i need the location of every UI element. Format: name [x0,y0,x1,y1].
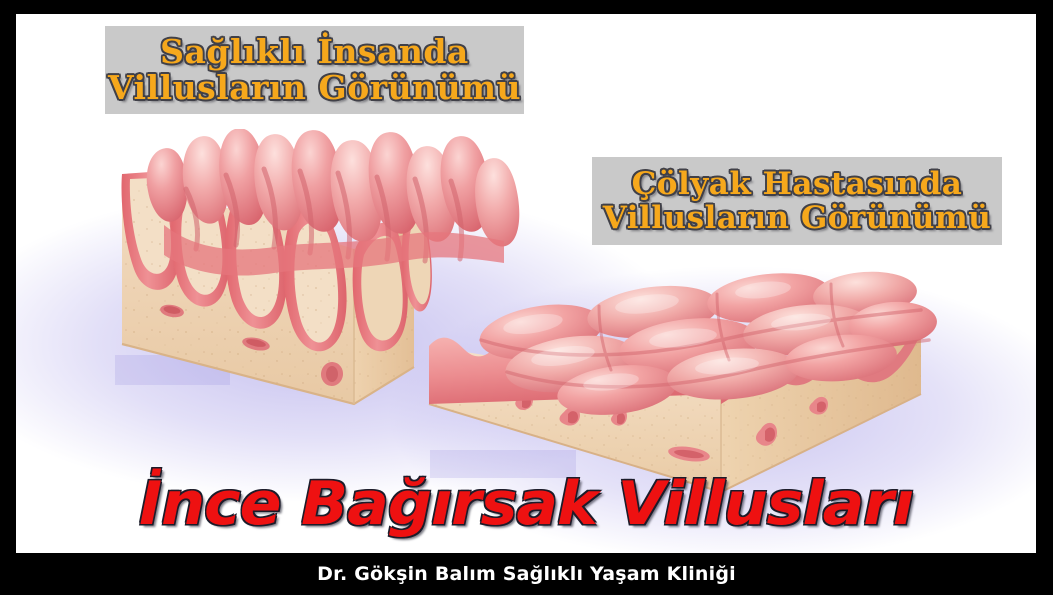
healthy-caption-line2: Villusların Görünümü [108,71,521,105]
healthy-villi-caption: Sağlıklı İnsanda Villusların Görünümü [105,26,524,114]
slide-canvas: Sağlıklı İnsanda Villusların Görünümü Çö… [16,14,1036,553]
healthy-caption-line1: Sağlıklı İnsanda [160,35,469,69]
slide-headline: İnce Bağırsak Villusları [16,469,1036,539]
celiac-villi-illustration [421,254,941,504]
footer-bar: Dr. Gökşin Balım Sağlıklı Yaşam Kliniği [0,553,1053,595]
celiac-villi-caption: Çölyak Hastasında Villusların Görünümü [592,157,1002,245]
slide-frame: Sağlıklı İnsanda Villusların Görünümü Çö… [0,0,1053,595]
clinic-credit-text: Dr. Gökşin Balım Sağlıklı Yaşam Kliniği [317,563,736,585]
celiac-caption-line1: Çölyak Hastasında [632,168,963,200]
celiac-caption-line2: Villusların Görünümü [603,202,992,234]
